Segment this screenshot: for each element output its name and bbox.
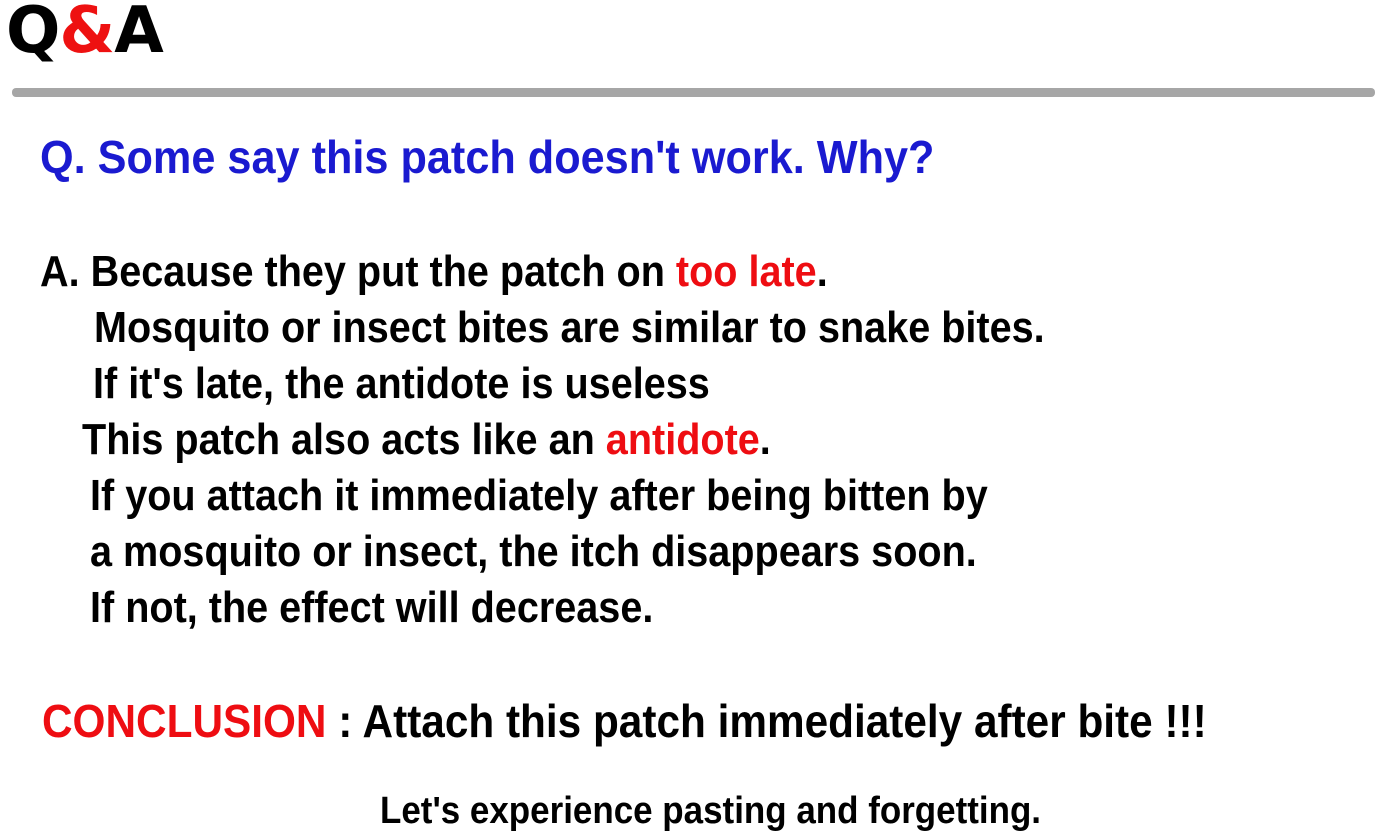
conclusion-line: CONCLUSION : Attach this patch immediate… [42,698,1207,744]
answer-line-1-highlight-too-late: too late [676,247,817,296]
answer-line-4: This patch also acts like an antidote. [82,418,771,462]
title-letter-q: Q [6,0,59,68]
answer-line-1: A. Because they put the patch on too lat… [40,250,828,294]
answer-line-3-seg-1: If it's late, the antidote is useless [93,359,710,408]
title-letter-a: A [114,0,163,68]
conclusion-label: CONCLUSION [42,695,326,747]
answer-line-4-seg-1: This patch also acts like an [82,415,606,464]
answer-line-4-seg-3: . [760,415,771,464]
title-ampersand: & [59,0,114,68]
answer-line-6: a mosquito or insect, the itch disappear… [90,530,977,574]
slide-canvas: Q&A Q. Some say this patch doesn't work.… [0,0,1386,839]
answer-line-1-seg-3: . [817,247,828,296]
closing-line: Let's experience pasting and forgetting. [380,792,1041,830]
question-line: Q. Some say this patch doesn't work. Why… [40,134,934,180]
page-title: Q&A [6,0,163,66]
answer-line-1-seg-1: A. Because they put the patch on [40,247,676,296]
answer-line-4-highlight-antidote: antidote [606,415,760,464]
answer-line-7-seg-1: If not, the effect will decrease. [90,583,653,632]
answer-line-2-seg-1: Mosquito or insect bites are similar to … [94,303,1045,352]
answer-line-5-seg-1: If you attach it immediately after being… [90,471,988,520]
conclusion-text: : Attach this patch immediately after bi… [326,695,1206,747]
answer-line-7: If not, the effect will decrease. [90,586,653,630]
answer-line-3: If it's late, the antidote is useless [93,362,710,406]
answer-line-5: If you attach it immediately after being… [90,474,988,518]
answer-line-6-seg-1: a mosquito or insect, the itch disappear… [90,527,977,576]
header-divider-rule [12,88,1375,97]
answer-line-2: Mosquito or insect bites are similar to … [94,306,1045,350]
